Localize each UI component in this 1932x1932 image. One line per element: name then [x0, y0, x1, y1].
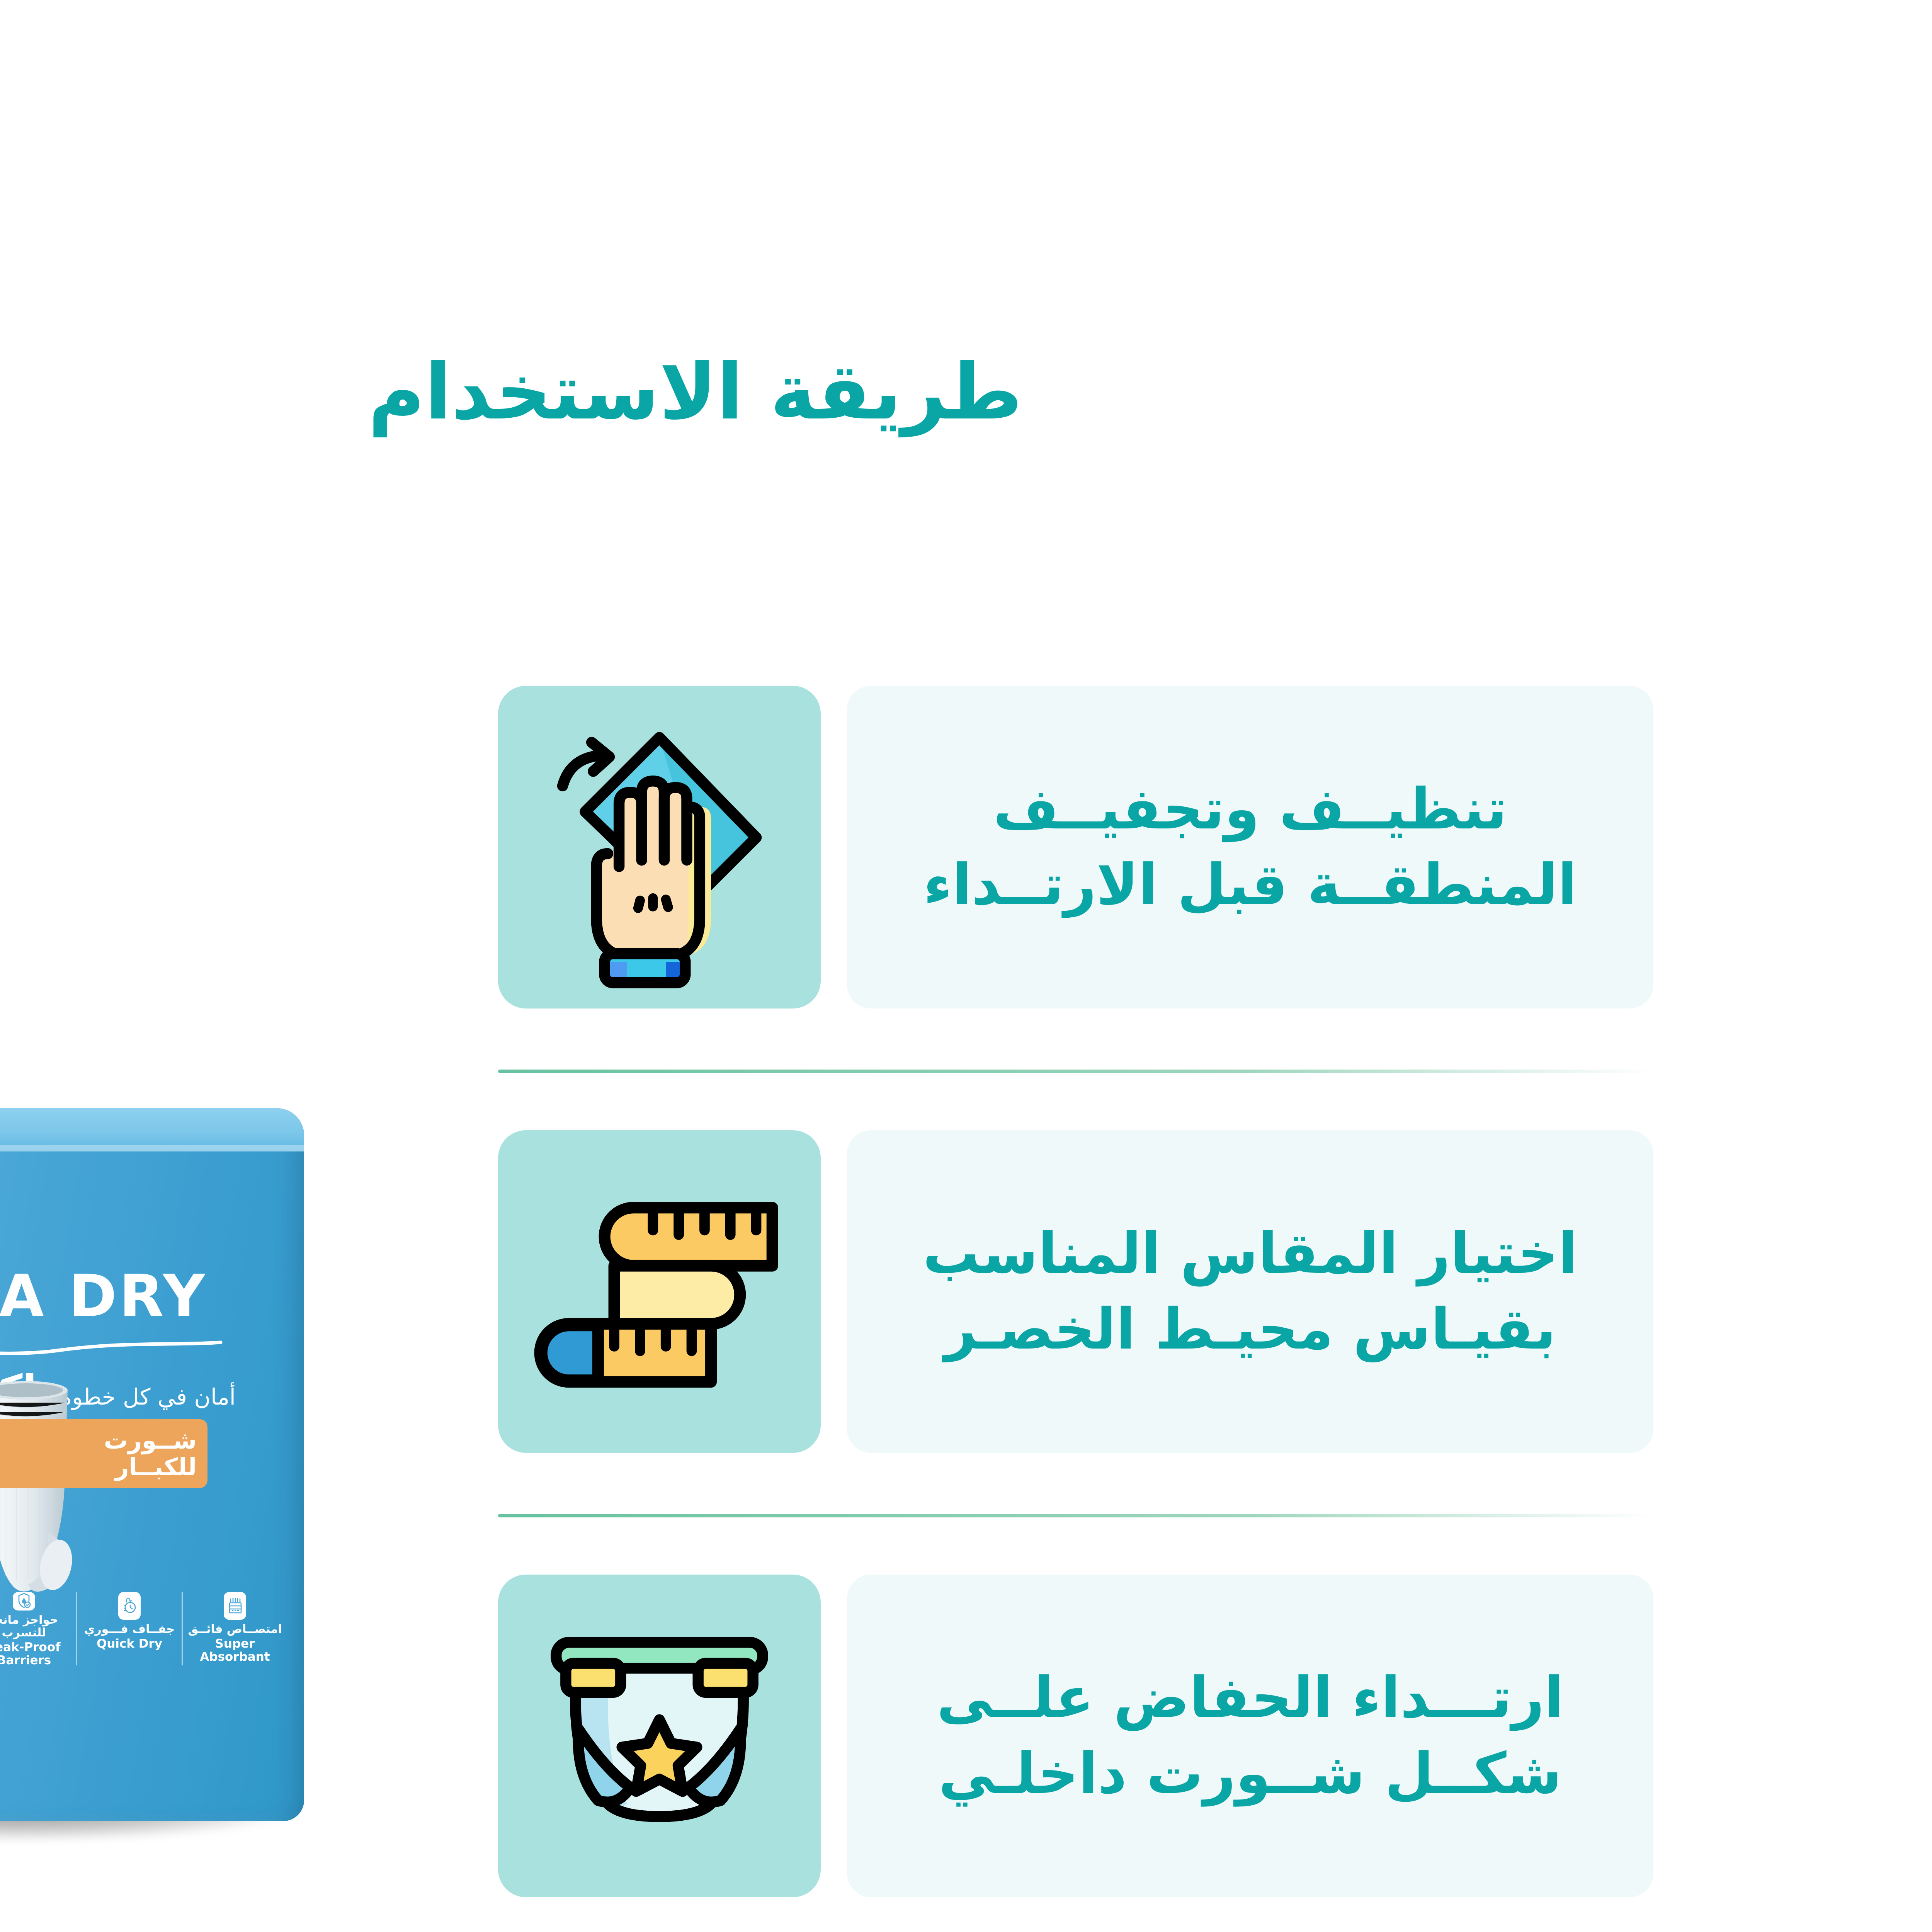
- step-card-1: تنظيــف وتجفيــف المنطقــة قبل الارتــدا…: [847, 686, 1653, 1009]
- badge-ar-line2: للكبــار: [115, 1453, 197, 1481]
- absorbency-layers-icon: [224, 1592, 246, 1620]
- step-text-1: تنظيــف وتجفيــف المنطقــة قبل الارتــدا…: [874, 772, 1626, 923]
- package-top-fold: [0, 1108, 304, 1151]
- step-text-2: اختيار المقاس المناسب بقيـاس محيـط الخصـ…: [874, 1216, 1626, 1367]
- diaper-icon: [498, 1575, 821, 1897]
- feature-label-en-3: Super Absorbant: [183, 1637, 287, 1663]
- step-divider-1: [498, 1009, 1653, 1130]
- swoosh-decoration: [0, 1336, 223, 1363]
- step-item-1: تنظيــف وتجفيــف المنطقــة قبل الارتــدا…: [498, 686, 1653, 1009]
- step-divider-2: [498, 1453, 1653, 1575]
- page-title: طريقة الاستخدام: [0, 350, 1932, 435]
- measuring-tape-icon: [498, 1130, 821, 1453]
- adult-pants-badge: Adult Pants شــورت للكبــار: [0, 1419, 207, 1488]
- step-text-3: ارتـــداء الحفاض علــى شكــل شــورت داخل…: [874, 1660, 1626, 1811]
- package-body: EXACARE. EXTRA DRY أمان في كل خطوة .. إك…: [0, 1108, 304, 1821]
- product-title-en: EXTRA DRY: [0, 1263, 304, 1330]
- feature-label-ar-3: امتصــاص فائــق: [188, 1623, 282, 1636]
- steps-list: تنظيــف وتجفيــف المنطقــة قبل الارتــدا…: [498, 686, 1653, 1932]
- feature-super-absorbant: امتصــاص فائــق Super Absorbant: [182, 1592, 287, 1665]
- feature-label-ar-2: جفــاف فـــوري: [84, 1623, 175, 1636]
- package-features: حواجز مانعة للتسرب Leak-Proof Barriers ج…: [0, 1592, 287, 1665]
- product-package-image: EXACARE. EXTRA DRY أمان في كل خطوة .. إك…: [0, 1108, 304, 1821]
- feature-leak-proof: حواجز مانعة للتسرب Leak-Proof Barriers: [0, 1592, 76, 1665]
- feature-label-en-1: Leak-Proof Barriers: [0, 1641, 76, 1667]
- shield-drop-icon: [13, 1592, 35, 1611]
- feature-quick-dry: جفــاف فـــوري Quick Dry: [76, 1592, 182, 1665]
- feature-label-ar-1: حواجز مانعة للتسرب: [0, 1614, 76, 1639]
- feature-label-en-2: Quick Dry: [97, 1637, 162, 1650]
- stopwatch-icon: [118, 1592, 141, 1620]
- step-item-2: اختيار المقاس المناسب بقيـاس محيـط الخصـ…: [498, 1130, 1653, 1453]
- step-card-2: اختيار المقاس المناسب بقيـاس محيـط الخصـ…: [847, 1130, 1653, 1453]
- step-card-3: ارتـــداء الحفاض علــى شكــل شــورت داخل…: [847, 1575, 1653, 1897]
- step-divider-3: [498, 1897, 1653, 1932]
- badge-text-ar: شــورت للكبــار: [104, 1427, 197, 1481]
- adult-pants-photo: [0, 1375, 95, 1614]
- badge-ar-line1: شــورت: [104, 1426, 197, 1454]
- step-item-3: ارتـــداء الحفاض علــى شكــل شــورت داخل…: [498, 1575, 1653, 1897]
- hand-wiping-cloth-icon: [498, 686, 821, 1009]
